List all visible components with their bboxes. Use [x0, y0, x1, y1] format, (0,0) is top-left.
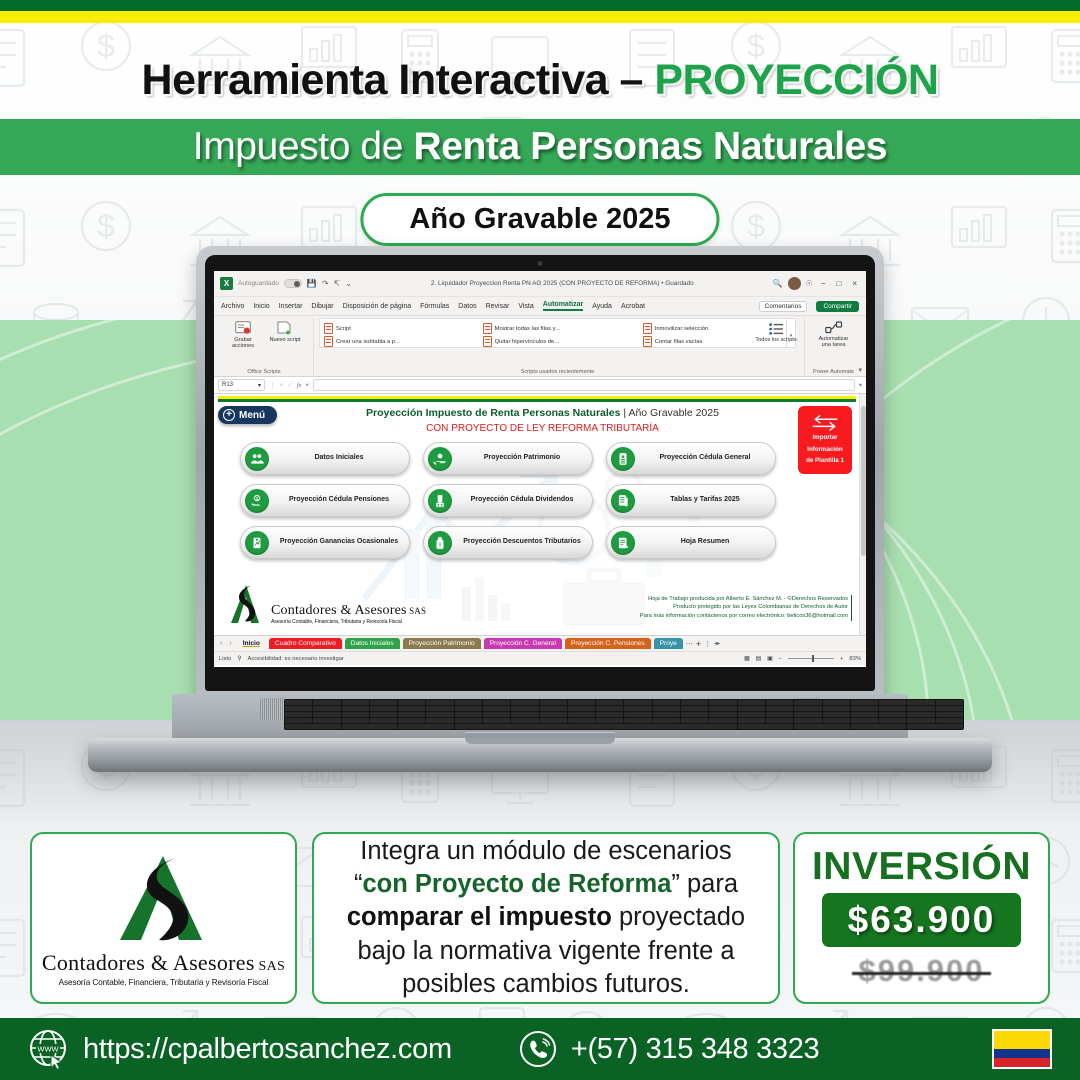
flag-blue-stripe — [994, 1049, 1050, 1058]
worksheet-subtitle: CON PROYECTO DE LEY REFORMA TRIBUTARÍA — [314, 423, 771, 434]
discounts-icon: $ — [428, 531, 452, 555]
phone-icon — [518, 1029, 558, 1069]
worksheet-copyright-note: Hoja de Trabajo producida por Alberto E.… — [640, 595, 852, 621]
worksheet-button-grid: Datos Iniciales Proyección Patrimonio Pr… — [240, 442, 780, 559]
sheet-button-proyeccion-descuentos-tributarios[interactable]: $ Proyección Descuentos Tributarios — [423, 526, 593, 559]
contadores-logo-icon — [226, 583, 266, 625]
subtitle-band: Impuesto de Renta Personas Naturales — [0, 119, 1080, 175]
laptop-bezel: X Autoguardado 💾 ↷ ↸ ⌄ 2. Liquidador Pro… — [205, 255, 875, 691]
laptop-base — [88, 694, 992, 774]
users-icon — [245, 447, 269, 471]
description-card: Integra un módulo de escenarios “con Pro… — [312, 832, 780, 1004]
sheet-button-label: Tablas y Tarifas 2025 — [641, 496, 775, 505]
todos-los-scripts-button[interactable]: Todos los scripts — [755, 320, 797, 343]
zoom-out-icon[interactable]: − — [779, 656, 782, 662]
document-name[interactable]: 2. Liquidador Proyeccion Renta PN AG 202… — [357, 280, 768, 287]
menu-button-label: Menú — [239, 410, 265, 421]
script-item-2-label: Mostrar todas las filas y... — [495, 326, 560, 332]
script-item-1-label: Script — [336, 326, 351, 332]
desc-line-1: Integra un módulo de escenarios — [360, 837, 731, 865]
price-value: $63.900 — [822, 893, 1022, 947]
poster-root: $ — [0, 0, 1080, 1080]
keyboard-row — [285, 724, 963, 729]
globe-www-icon: WWW — [28, 1028, 70, 1070]
laptop-lid: X Autoguardado 💾 ↷ ↸ ⌄ 2. Liquidador Pro… — [196, 246, 884, 708]
sheet-tab-datos-iniciales[interactable]: Datos Iniciales — [345, 638, 400, 649]
tab-dibujar[interactable]: Dibujar — [311, 303, 333, 310]
autosave-label: Autoguardado — [238, 280, 279, 287]
plus-circle-icon: + — [223, 409, 235, 421]
worksheet-title-normal: Año Gravable 2025 — [628, 407, 718, 419]
sheet-button-label: Proyección Cédula Dividendos — [458, 496, 592, 505]
document-person-icon — [611, 447, 635, 471]
brand-logo-sas: SAS — [255, 959, 285, 974]
sheet-button-proyeccion-cedula-pensiones[interactable]: $ Proyección Cédula Pensiones — [240, 484, 410, 517]
script-icon — [643, 323, 652, 334]
sheet-tabs-overflow-icon[interactable]: ⋯ — [686, 640, 693, 648]
menu-button[interactable]: + Menú — [218, 406, 277, 424]
name-box-value: R13 — [222, 382, 233, 388]
laptop-mockup: X Autoguardado 💾 ↷ ↸ ⌄ 2. Liquidador Pro… — [88, 246, 992, 814]
script-icon — [643, 336, 652, 347]
sheet-button-label: Proyección Patrimonio — [458, 454, 592, 463]
top-yellow-bar — [0, 11, 1080, 23]
grabar-acciones-label: Grabar acciones — [223, 337, 263, 350]
subtitle-light: Impuesto de — [193, 125, 414, 168]
ribbon-group-office-scripts: Grabar acciones Nuevo script — [218, 318, 310, 376]
sheet-button-label: Proyección Cédula Pensiones — [275, 496, 409, 505]
desc-highlight-green: con Proyecto de Reforma — [362, 870, 671, 898]
page-title-accent: PROYECCIÓN — [654, 56, 938, 104]
watermark-bars-icon — [460, 569, 520, 629]
sheet-tab-inicio[interactable]: Inicio — [237, 638, 266, 649]
year-pill: Año Gravable 2025 — [360, 193, 719, 246]
laptop-base-top — [172, 694, 908, 742]
worksheet-logo-name: Contadores & Asesores SAS — [271, 603, 426, 619]
speaker-grill-left-icon — [260, 698, 286, 720]
script-item-4[interactable]: Crear una subtabla a p... — [324, 336, 474, 347]
sheet-green-stripe — [218, 399, 856, 402]
automate-task-icon — [825, 321, 843, 334]
zoom-slider[interactable] — [788, 658, 834, 659]
desc-line-2-tail: para — [687, 870, 738, 898]
tables-icon — [611, 489, 635, 513]
avatar[interactable] — [788, 277, 801, 290]
recent-scripts-list: Script Mostrar todas las filas y... Inmo… — [320, 319, 786, 347]
customize-qat-icon[interactable]: ⌄ — [345, 279, 352, 288]
group-label-recent-scripts: Scripts usados recientemente — [521, 369, 595, 376]
import-line-3: de Plantilla 1 — [806, 457, 844, 465]
tab-archivo[interactable]: Archivo — [221, 303, 244, 310]
tab-formulas[interactable]: Fórmulas — [420, 303, 449, 310]
ribbon-group-recent-scripts: Script Mostrar todas las filas y... Inmo… — [313, 318, 801, 376]
sheet-scroll-icons[interactable]: ◂▸ — [714, 640, 720, 647]
worksheet-title-bold: Proyección Impuesto de Renta Personas Na… — [366, 407, 620, 419]
name-box[interactable]: R13 ▾ — [218, 379, 265, 391]
sheet-tab-cuadro-comparativo[interactable]: Cuadro Comparativo — [269, 638, 342, 649]
add-sheet-icon[interactable]: + — [696, 639, 701, 649]
import-arrows-icon — [812, 414, 838, 431]
tab-acrobat[interactable]: Acrobat — [621, 303, 645, 310]
worksheet-title: Proyección Impuesto de Renta Personas Na… — [314, 407, 771, 419]
insert-function-icon[interactable]: fx — [297, 382, 302, 389]
group-label-power-automate: Power Automate — [813, 369, 854, 376]
help-icon[interactable]: ☉ — [806, 279, 813, 288]
worksheet-footer-logo: Contadores & Asesores SAS Asesoría Conta… — [226, 583, 426, 625]
desc-highlight-bold: comparar el impuesto — [347, 903, 612, 931]
record-actions-icon — [235, 321, 251, 335]
hand-coin-icon — [428, 447, 452, 471]
comments-button[interactable]: Comentarios — [759, 301, 808, 312]
page-title: Herramienta Interactiva – PROYECCIÓN — [0, 56, 1080, 105]
sheet-button-datos-iniciales[interactable]: Datos Iniciales — [240, 442, 410, 475]
script-item-1[interactable]: Script — [324, 323, 474, 334]
brand-logo-tagline: Asesoría Contable, Financiera, Tributari… — [59, 978, 269, 987]
desc-line-5: posibles cambios futuros. — [402, 970, 690, 998]
close-button[interactable]: × — [849, 279, 860, 288]
note-line-2: Producto protegido por las Leyes Colombi… — [640, 603, 848, 612]
import-line-2: Información — [807, 446, 842, 454]
nuevo-script-button[interactable]: Nuevo script — [265, 318, 305, 350]
ribbon-tab-bar: Archivo Inicio Insertar Dibujar Disposic… — [214, 297, 866, 316]
sheet-button-label: Proyección Descuentos Tributarios — [458, 538, 592, 547]
sheet-button-proyeccion-patrimonio[interactable]: Proyección Patrimonio — [423, 442, 593, 475]
autosave-toggle[interactable] — [284, 279, 302, 288]
svg-text:WWW: WWW — [37, 1045, 59, 1054]
script-item-4-label: Crear una subtabla a p... — [336, 339, 400, 345]
status-accessibility-label[interactable]: Accesibilidad: es necesario investigar — [248, 656, 344, 662]
sheet-button-label: Datos Iniciales — [275, 454, 409, 463]
footer-bar: WWW https://cpalbertosanchez.com +(57) 3… — [0, 1018, 1080, 1080]
subtitle-bold: Renta Personas Naturales — [413, 125, 887, 168]
scrollbar-thumb[interactable] — [861, 406, 866, 556]
contadores-logo-icon — [105, 850, 223, 946]
website-item[interactable]: WWW https://cpalbertosanchez.com — [28, 1028, 452, 1070]
import-plantilla-button[interactable]: Importar Información de Plantilla 1 — [798, 406, 852, 474]
prev-sheet-icon[interactable]: ‹ — [218, 640, 224, 647]
worksheet-logo-sas: SAS — [407, 606, 427, 616]
todos-los-scripts-label: Todos los scripts — [755, 337, 796, 343]
sheet-options-icon[interactable]: ⋮ — [704, 640, 711, 648]
desc-quote-close: ” — [671, 870, 687, 898]
import-line-1: Importar — [812, 434, 837, 442]
tab-revisar[interactable]: Revisar — [486, 303, 510, 310]
enter-icon[interactable]: ✓ — [287, 381, 292, 389]
script-item-5-label: Quitar hipervínculos de... — [495, 339, 559, 345]
nuevo-script-label: Nuevo script — [269, 337, 300, 343]
automatizar-una-tarea-label: Automatizar una tarea — [814, 336, 854, 349]
laptop-screen: X Autoguardado 💾 ↷ ↸ ⌄ 2. Liquidador Pro… — [214, 271, 866, 667]
script-icon — [483, 336, 492, 347]
minimize-button[interactable]: − — [818, 279, 829, 288]
sheet-tab-proyeccion-c-pensiones[interactable]: Proyección C. Pensiones — [565, 638, 651, 649]
page-layout-view-icon[interactable]: ▤ — [756, 656, 761, 662]
tab-disposicion-pagina[interactable]: Disposición de página — [343, 303, 412, 310]
keyboard-row — [285, 706, 963, 711]
desc-line-3-tail: proyectado — [612, 903, 745, 931]
formula-divider: ⋮ — [269, 381, 276, 389]
recent-scripts-box: Script Mostrar todas las filas y... Inmo… — [319, 318, 796, 348]
maximize-button[interactable]: □ — [833, 279, 844, 288]
script-icon — [483, 323, 492, 334]
script-item-6-label: Contar filas vacías — [655, 339, 703, 345]
accessibility-icon[interactable]: ⚲ — [237, 656, 241, 662]
keyboard-row — [285, 700, 963, 705]
ribbon-collapse-icon[interactable]: ▾ — [858, 366, 862, 374]
brand-logo-name-text: Contadores & Asesores — [42, 950, 255, 975]
price-card: INVERSIÓN $63.900 $99.900 — [793, 832, 1050, 1004]
note-line-3: Para más información contáctenos por cor… — [640, 612, 848, 621]
top-dark-green-bar — [0, 0, 1080, 11]
redo-icon[interactable]: ↸ — [334, 279, 341, 288]
status-bar: Listo ⚲ Accesibilidad: es necesario inve… — [214, 651, 866, 665]
script-icon — [324, 336, 333, 347]
flag-yellow-stripe — [994, 1031, 1050, 1049]
all-scripts-icon — [769, 323, 784, 335]
cancel-icon[interactable]: × — [280, 382, 284, 389]
desc-line-4: bajo la normativa vigente frente a — [357, 937, 734, 965]
formula-input[interactable] — [313, 379, 855, 391]
excel-logo-icon: X — [220, 277, 233, 290]
status-ready-label: Listo — [219, 656, 231, 662]
phone-label[interactable]: +(57) 315 348 3323 — [571, 1033, 820, 1066]
page-title-plain: Herramienta Interactiva – — [142, 56, 655, 104]
laptop-keyboard — [284, 699, 964, 730]
pension-hand-icon: $ — [245, 489, 269, 513]
gains-icon — [245, 531, 269, 555]
description-text: Integra un módulo de escenarios “con Pro… — [347, 835, 745, 1001]
undo-icon[interactable]: ↷ — [322, 279, 329, 288]
share-button-label[interactable]: Compartir — [816, 301, 859, 312]
sheet-tab-bar: ‹ › Inicio Cuadro Comparativo Datos Inic… — [214, 635, 866, 651]
sheet-tab-proyeccion-patrimonio[interactable]: Proyección Patrimonio — [403, 638, 481, 649]
sheet-tab-proye-partial[interactable]: Proye — [654, 638, 683, 649]
worksheet-logo-name-text: Contadores & Asesores — [271, 603, 407, 618]
tab-datos[interactable]: Datos — [458, 303, 476, 310]
next-sheet-icon[interactable]: › — [227, 640, 233, 647]
name-box-chevron-down-icon[interactable]: ▾ — [258, 382, 261, 389]
brand-logo-name: Contadores & Asesores SAS — [42, 950, 285, 976]
sheet-tab-proyeccion-c-general[interactable]: Proyección C. General — [484, 638, 562, 649]
expand-formula-bar-icon[interactable]: ▾ — [859, 381, 862, 389]
sheet-button-proyeccion-cedula-dividendos[interactable]: Proyección Cédula Dividendos — [423, 484, 593, 517]
brand-logo-card: Contadores & Asesores SAS Asesoría Conta… — [30, 832, 297, 1004]
laptop-base-lip — [88, 738, 992, 772]
tab-insertar[interactable]: Insertar — [279, 303, 303, 310]
bottom-cards: Contadores & Asesores SAS Asesoría Conta… — [0, 832, 1080, 1004]
dividends-icon — [428, 489, 452, 513]
group-label-office-scripts: Office Scripts — [247, 369, 280, 376]
sheet-button-label: Proyección Cédula General — [641, 454, 775, 463]
page-break-view-icon[interactable]: ▣ — [767, 656, 772, 662]
sheet-button-proyeccion-ganancias-ocasionales[interactable]: Proyección Ganancias Ocasionales — [240, 526, 410, 559]
worksheet-logo-tagline: Asesoría Contable, Financiera, Tributari… — [271, 619, 426, 625]
zoom-level-label[interactable]: 83% — [849, 656, 861, 662]
sheet-button-label: Hoja Resumen — [641, 538, 775, 547]
new-script-icon — [277, 321, 293, 335]
website-label[interactable]: https://cpalbertosanchez.com — [83, 1033, 452, 1066]
sheet-button-hoja-resumen[interactable]: Hoja Resumen — [606, 526, 776, 559]
tab-ayuda[interactable]: Ayuda — [592, 303, 612, 310]
sheet-button-label: Proyección Ganancias Ocasionales — [275, 538, 409, 547]
script-icon — [324, 323, 333, 334]
search-icon[interactable]: 🔍 — [773, 279, 783, 288]
excel-title-bar: X Autoguardado 💾 ↷ ↸ ⌄ 2. Liquidador Pro… — [214, 271, 866, 297]
webcam-icon — [538, 261, 543, 266]
normal-view-icon[interactable]: ▦ — [744, 656, 749, 662]
ribbon-body: Grabar acciones Nuevo script — [214, 316, 866, 377]
old-price-value: $99.900 — [858, 953, 984, 989]
zoom-in-icon[interactable]: + — [840, 656, 843, 662]
formula-bar: R13 ▾ ⋮ × ✓ fx ▾ ▾ — [214, 377, 866, 394]
save-icon[interactable]: 💾 — [307, 279, 317, 288]
script-item-3-label: Inmovilizar selección — [655, 326, 708, 332]
worksheet-canvas: + Menú Proyección Impuesto de Renta Pers… — [214, 394, 866, 635]
colombia-flag-icon — [992, 1029, 1052, 1069]
grabar-acciones-button[interactable]: Grabar acciones — [223, 318, 263, 350]
sheet-button-proyeccion-cedula-general[interactable]: Proyección Cédula General — [606, 442, 776, 475]
tab-vista[interactable]: Vista — [518, 303, 533, 310]
script-item-2[interactable]: Mostrar todas las filas y... — [483, 323, 634, 334]
vertical-scrollbar[interactable] — [859, 394, 866, 635]
fx-chevron-down-icon[interactable]: ▾ — [305, 381, 308, 389]
sheet-button-tablas-y-tarifas[interactable]: Tablas y Tarifas 2025 — [606, 484, 776, 517]
investment-title: INVERSIÓN — [812, 847, 1031, 886]
automatizar-una-tarea-button[interactable]: Automatizar una tarea — [814, 318, 854, 349]
flag-red-stripe — [994, 1058, 1050, 1067]
tab-inicio[interactable]: Inicio — [253, 303, 269, 310]
keyboard-row — [285, 712, 963, 717]
ribbon-group-power-automate: Automatizar una tarea Power Automate — [804, 318, 862, 376]
tab-automatizar[interactable]: Automatizar — [543, 301, 583, 311]
summary-icon — [611, 531, 635, 555]
phone-item[interactable]: +(57) 315 348 3323 — [518, 1029, 820, 1069]
script-item-5[interactable]: Quitar hipervínculos de... — [483, 336, 634, 347]
note-line-1: Hoja de Trabajo producida por Alberto E.… — [640, 595, 848, 604]
keyboard-row — [285, 718, 963, 723]
